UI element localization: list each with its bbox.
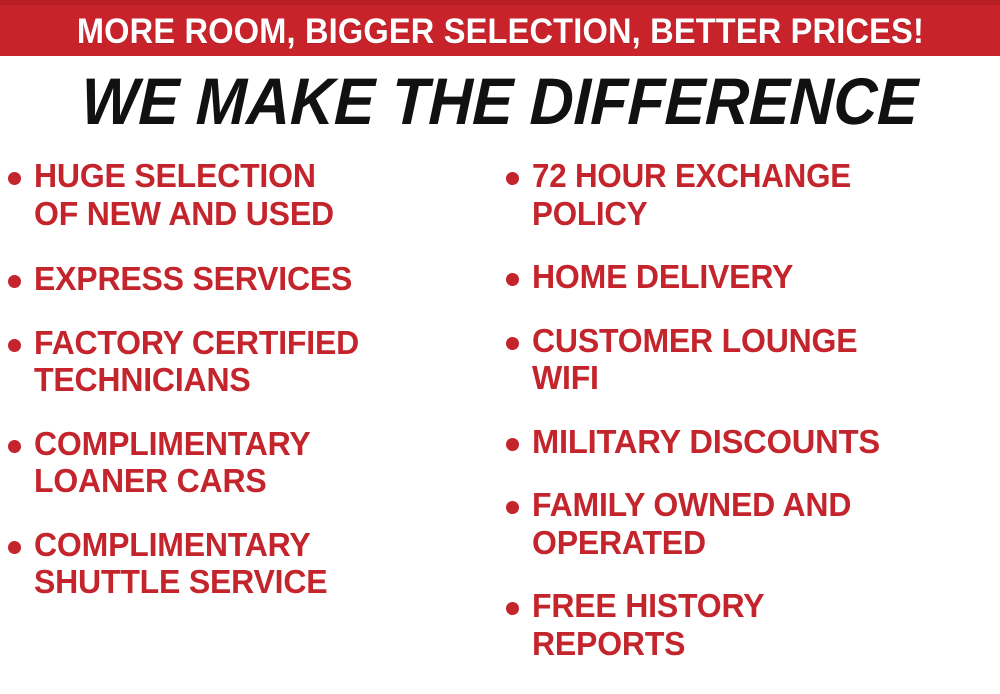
bullet-dot-icon — [506, 501, 519, 514]
list-item: HOME DELIVERY — [506, 259, 1000, 297]
page-title: WE MAKE THE DIFFERENCE — [0, 68, 1000, 134]
promo-banner-text: MORE ROOM, BIGGER SELECTION, BETTER PRIC… — [76, 14, 923, 49]
list-item: MILITARY DISCOUNTS — [506, 424, 1000, 462]
list-item-label: FACTORY CERTIFIED TECHNICIANS — [34, 325, 479, 400]
list-item-label: FAMILY OWNED AND OPERATED — [532, 487, 979, 562]
benefits-column-right: 72 HOUR EXCHANGE POLICY HOME DELIVERY CU… — [506, 158, 1000, 694]
list-item-label: CUSTOMER LOUNGE WIFI — [532, 323, 979, 398]
list-item: COMPLIMENTARY LOANER CARS — [8, 426, 500, 501]
list-item: FAMILY OWNED AND OPERATED — [506, 487, 1000, 562]
benefits-column-left: HUGE SELECTION OF NEW AND USED EXPRESS S… — [8, 158, 500, 694]
list-item-label: COMPLIMENTARY SHUTTLE SERVICE — [34, 527, 479, 602]
list-item: FACTORY CERTIFIED TECHNICIANS — [8, 325, 500, 400]
list-item: HUGE SELECTION OF NEW AND USED — [8, 158, 500, 233]
bullet-dot-icon — [8, 440, 21, 453]
bullet-dot-icon — [506, 172, 519, 185]
bullet-dot-icon — [506, 438, 519, 451]
bullet-dot-icon — [506, 273, 519, 286]
bullet-dot-icon — [8, 172, 21, 185]
list-item: 72 HOUR EXCHANGE POLICY — [506, 158, 1000, 233]
list-item-label: MILITARY DISCOUNTS — [532, 424, 988, 462]
list-item-label: HOME DELIVERY — [532, 259, 979, 297]
list-item: COMPLIMENTARY SHUTTLE SERVICE — [8, 527, 500, 602]
list-item: EXPRESS SERVICES — [8, 261, 500, 299]
page-title-text: WE MAKE THE DIFFERENCE — [81, 68, 920, 134]
list-item: FREE HISTORY REPORTS — [506, 588, 1000, 663]
bullet-dot-icon — [8, 339, 21, 352]
list-item-label: HUGE SELECTION OF NEW AND USED — [34, 158, 479, 233]
bullet-dot-icon — [8, 275, 21, 288]
list-item-label: COMPLIMENTARY LOANER CARS — [34, 426, 479, 501]
benefits-columns: HUGE SELECTION OF NEW AND USED EXPRESS S… — [0, 158, 1000, 694]
list-item-label: 72 HOUR EXCHANGE POLICY — [532, 158, 970, 233]
bullet-dot-icon — [506, 602, 519, 615]
list-item: CUSTOMER LOUNGE WIFI — [506, 323, 1000, 398]
promo-banner: MORE ROOM, BIGGER SELECTION, BETTER PRIC… — [0, 0, 1000, 56]
list-item-label: EXPRESS SERVICES — [34, 261, 479, 299]
bullet-dot-icon — [506, 337, 519, 350]
bullet-dot-icon — [8, 541, 21, 554]
list-item-label: FREE HISTORY REPORTS — [532, 588, 979, 663]
